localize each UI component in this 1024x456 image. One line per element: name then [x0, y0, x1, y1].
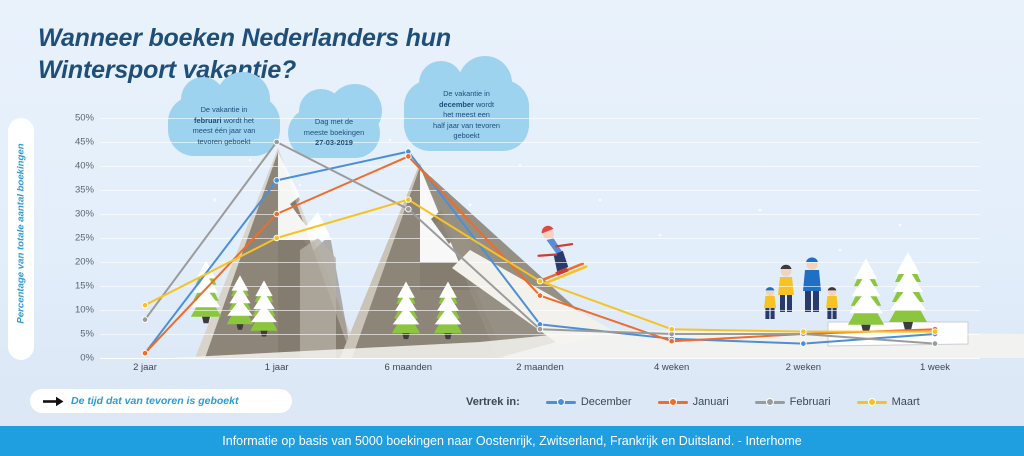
annotation-cloud-december: De vakantie in december wordt het meest … — [404, 80, 529, 151]
data-point — [669, 338, 675, 344]
cloud1-line3: meest één jaar van — [193, 126, 256, 135]
caption-text: De tijd dat van tevoren is geboekt — [71, 395, 238, 407]
legend-item-maart[interactable]: Maart — [857, 396, 920, 408]
cloud3-line2: wordt — [474, 100, 494, 109]
x-axis-tick-label: 6 maanden — [385, 362, 433, 373]
data-point — [801, 329, 807, 335]
legend-label: December — [581, 396, 632, 408]
data-point — [537, 278, 543, 284]
x-axis-tick-label: 1 jaar — [265, 362, 289, 373]
arrow-right-icon — [42, 396, 64, 407]
cloud1-line4: tevoren geboekt — [197, 137, 250, 146]
x-axis-tick-label: 4 weken — [654, 362, 689, 373]
data-point — [406, 206, 412, 212]
data-point — [932, 341, 938, 347]
data-point — [537, 326, 543, 332]
chart-series-lines — [100, 118, 980, 358]
data-point — [406, 154, 412, 160]
legend-label: Februari — [790, 396, 831, 408]
gridline — [100, 358, 980, 359]
data-point — [274, 211, 280, 217]
legend-label: Maart — [892, 396, 920, 408]
cloud3-line1: De vakantie in — [443, 89, 490, 98]
annotation-cloud-februari: De vakantie in februari wordt het meest … — [168, 96, 280, 156]
cloud2-bold-date: 27-03-2019 — [315, 138, 353, 147]
legend-title: Vertrek in: — [466, 396, 520, 408]
title-line-1: Wanneer boeken Nederlanders hun — [38, 22, 558, 54]
x-axis-tick-label: 1 week — [920, 362, 950, 373]
data-point — [142, 317, 148, 323]
y-axis-tick-label: 20% — [75, 257, 94, 268]
footer-text: Informatie op basis van 5000 boekingen n… — [222, 434, 801, 448]
y-axis-tick-label: 35% — [75, 185, 94, 196]
cloud2-line2: meeste boekingen — [304, 128, 364, 137]
y-axis-tick-label: 5% — [80, 329, 94, 340]
legend-item-januari[interactable]: Januari — [658, 396, 729, 408]
x-axis-tick-label: 2 maanden — [516, 362, 564, 373]
y-axis-tick-label: 10% — [75, 305, 94, 316]
data-point — [537, 293, 543, 299]
y-axis-tick-label: 15% — [75, 281, 94, 292]
legend-swatch-icon — [755, 397, 785, 407]
chart-plot-area: 0%5%10%15%20%25%30%35%40%45%50% 2 jaar1 … — [100, 118, 980, 358]
legend-item-februari[interactable]: Februari — [755, 396, 831, 408]
data-point — [274, 178, 280, 184]
y-axis-tick-label: 25% — [75, 233, 94, 244]
legend-swatch-icon — [857, 397, 887, 407]
series-maart — [142, 197, 938, 335]
cloud3-line4: half jaar van tevoren — [433, 121, 500, 130]
data-point — [406, 197, 412, 203]
legend-swatch-icon — [658, 397, 688, 407]
cloud1-line2: wordt het — [222, 116, 254, 125]
chart-legend: Vertrek in: DecemberJanuariFebruariMaart — [466, 392, 920, 412]
y-axis-tick-label: 45% — [75, 137, 94, 148]
y-axis-tick-label: 30% — [75, 209, 94, 220]
cloud3-line3: het meest een — [443, 110, 490, 119]
series-februari — [142, 139, 938, 346]
data-point — [669, 326, 675, 332]
y-axis-tick-label: 0% — [80, 353, 94, 364]
x-axis-tick-label: 2 weken — [786, 362, 821, 373]
data-point — [274, 139, 280, 145]
y-axis-tick-label: 40% — [75, 161, 94, 172]
data-point — [142, 302, 148, 308]
data-point — [274, 235, 280, 241]
x-axis-tick-label: 2 jaar — [133, 362, 157, 373]
y-axis-label: Percentage van totale aantal boekingen — [16, 113, 27, 355]
y-axis-tick-label: 50% — [75, 113, 94, 124]
infographic-root: Wanneer boeken Nederlanders hun Wintersp… — [0, 0, 1024, 456]
x-axis-caption: De tijd dat van tevoren is geboekt — [30, 389, 292, 413]
legend-label: Januari — [693, 396, 729, 408]
legend-swatch-icon — [546, 397, 576, 407]
cloud3-line5: geboekt — [453, 131, 479, 140]
cloud1-line1: De vakantie in — [201, 105, 248, 114]
series-december — [142, 149, 938, 356]
y-axis-label-pill: Percentage van totale aantal boekingen — [8, 118, 34, 360]
cloud2-line1: Dag met de — [315, 117, 353, 126]
footer-bar: Informatie op basis van 5000 boekingen n… — [0, 426, 1024, 456]
data-point — [801, 341, 807, 347]
data-point — [932, 329, 938, 335]
cloud1-bold: februari — [194, 116, 222, 125]
cloud3-bold: december — [439, 100, 474, 109]
data-point — [142, 350, 148, 356]
legend-item-december[interactable]: December — [546, 396, 632, 408]
